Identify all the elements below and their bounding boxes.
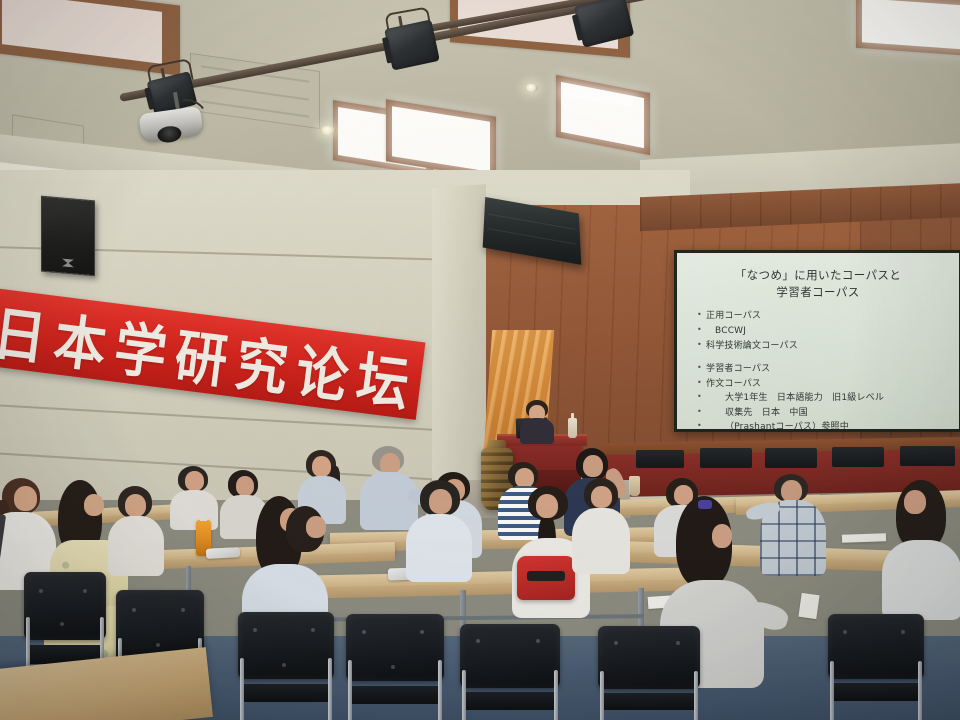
slide-bullet-text: BCCWJ: [706, 324, 746, 339]
torso: [406, 514, 472, 582]
chair-seat: [462, 692, 558, 710]
chair-seat: [600, 693, 698, 710]
chair-back: [828, 614, 924, 679]
bottle-cap-icon: [200, 515, 208, 521]
bullet-dot-icon: •: [697, 391, 706, 404]
slide-title: 「なつめ」に用いたコーパスと 学習者コーパス: [687, 267, 949, 300]
ceiling-panel-far-right: [862, 0, 960, 50]
chair-back: [460, 624, 560, 688]
slide-bullet-spacer: [697, 353, 949, 362]
papers-on-desk: [842, 533, 886, 543]
slide-bullet-text: 作文コーパス: [706, 377, 761, 392]
torso: [108, 516, 164, 576]
bullet-dot-icon: •: [697, 309, 706, 322]
slide-bullet-list: • 正用コーパス • BCCWJ • 科学技術論文コーパス • 学習者コーパス: [687, 309, 949, 429]
chair-back: [24, 572, 106, 640]
red-backpack: [517, 556, 575, 600]
torso: [572, 508, 630, 574]
head: [236, 476, 254, 496]
slide-bullet: • 科学技術論文コーパス: [697, 339, 949, 354]
slide-bullet: • 正用コーパス: [697, 309, 949, 324]
chair-seat: [830, 683, 922, 701]
slide-bullet-text: （Prashantコーパス）参照中: [706, 420, 849, 429]
chair: [346, 614, 444, 720]
head: [306, 516, 326, 538]
back-bench-seat-4: [900, 446, 955, 466]
drink-cup: [629, 476, 640, 496]
lecture-hall-photo: 日本学研究论坛 「なつめ」に用いたコーパスと 学習者コーパス • 正用コーパス …: [0, 0, 960, 720]
speaker-icon: [41, 196, 95, 277]
slide-bullet-text: 収集先 日本 中国: [706, 406, 808, 421]
chair-back: [238, 612, 334, 679]
head: [591, 486, 612, 508]
presenter-water-bottle: [568, 418, 577, 438]
chair: [238, 612, 334, 720]
head: [583, 455, 603, 477]
torso: [360, 472, 418, 530]
slide-bullet: • 作文コーパス: [697, 377, 949, 392]
slide-bullet: • 学習者コーパス: [697, 362, 949, 377]
back-bench-seat-0: [636, 450, 684, 468]
back-bench-seat-1: [700, 448, 752, 468]
chair: [828, 614, 924, 720]
chair-back: [598, 626, 700, 689]
torso: [882, 540, 960, 620]
head: [185, 471, 204, 491]
slide-bullet: • 大学1年生 日本語能力 旧1級レベル: [697, 391, 949, 406]
hair-tie: [698, 500, 712, 509]
head: [515, 468, 534, 488]
chair-seat: [240, 684, 332, 703]
downlight-icon-1: [320, 126, 336, 135]
bullet-dot-icon: •: [697, 420, 706, 429]
back-bench-seat-2: [765, 448, 817, 468]
slide-bullet-text: 科学技術論文コーパス: [706, 339, 798, 354]
speaker-logo-icon: [62, 258, 74, 267]
wall-pillar-left: [432, 184, 486, 488]
head: [429, 489, 452, 514]
slide-title-line-2: 学習者コーパス: [687, 284, 949, 301]
projection-screen: 「なつめ」に用いたコーパスと 学習者コーパス • 正用コーパス • BCCWJ …: [674, 250, 960, 432]
bullet-dot-icon: •: [697, 362, 706, 375]
chair: [598, 626, 700, 720]
bullet-dot-icon: •: [697, 377, 706, 390]
slide-bullet-text: 正用コーパス: [706, 309, 761, 324]
slide-bullet: • （Prashantコーパス）参照中: [697, 420, 949, 429]
head: [712, 524, 732, 548]
head: [536, 494, 558, 518]
slide-bullet-text: 大学1年生 日本語能力 旧1級レベル: [706, 391, 884, 406]
tablet-on-desk: [206, 547, 240, 559]
head: [781, 480, 802, 502]
slide-title-line-1: 「なつめ」に用いたコーパスと: [687, 267, 949, 284]
presenter-torso: [520, 418, 554, 444]
bullet-dot-icon: •: [697, 406, 706, 419]
head: [312, 456, 331, 477]
chair-seat: [348, 686, 442, 705]
slide-bullet: • BCCWJ: [697, 324, 949, 339]
head: [904, 490, 926, 514]
head: [125, 494, 146, 517]
slide-bullet-text: 学習者コーパス: [706, 362, 770, 377]
back-bench-seat-3: [832, 447, 884, 467]
desk-cross-bar: [292, 614, 644, 622]
slide-bullet: • 収集先 日本 中国: [697, 406, 949, 421]
held-paper: [798, 593, 819, 619]
bullet-dot-icon: •: [697, 339, 706, 352]
downlight-icon-2: [525, 84, 538, 92]
head: [84, 494, 104, 516]
chair: [460, 624, 560, 720]
head: [14, 486, 37, 511]
backpack-strap: [527, 571, 564, 581]
slide-content: 「なつめ」に用いたコーパスと 学習者コーパス • 正用コーパス • BCCWJ …: [677, 253, 959, 429]
chair-back: [346, 614, 444, 681]
bullet-dot-icon: •: [697, 324, 706, 337]
